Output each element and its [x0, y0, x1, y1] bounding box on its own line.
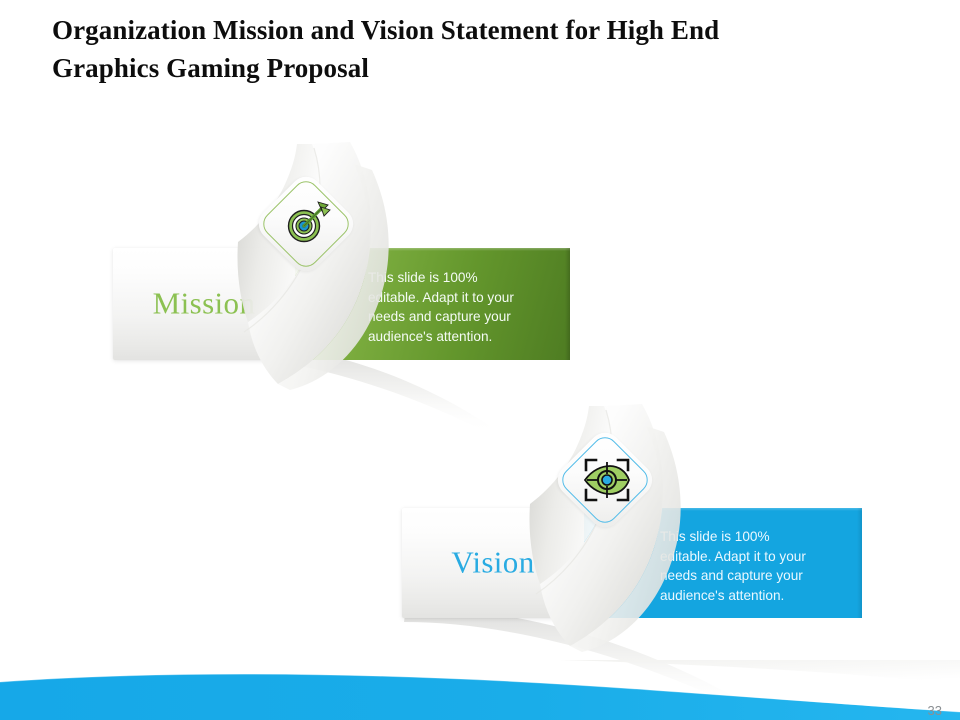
eye-target-icon	[577, 452, 633, 508]
page-number: 33	[928, 703, 942, 718]
vision-banner: This slide is 100% editable. Adapt it to…	[580, 508, 862, 618]
slide-canvas: Organization Mission and Vision Statemen…	[0, 0, 960, 720]
vision-label: Vision	[402, 544, 584, 580]
vision-body-text: This slide is 100% editable. Adapt it to…	[660, 527, 855, 606]
vision-label-card: Vision	[402, 508, 584, 618]
bottom-wave-decoration	[0, 660, 960, 720]
vision-group: This slide is 100% editable. Adapt it to…	[0, 0, 960, 720]
